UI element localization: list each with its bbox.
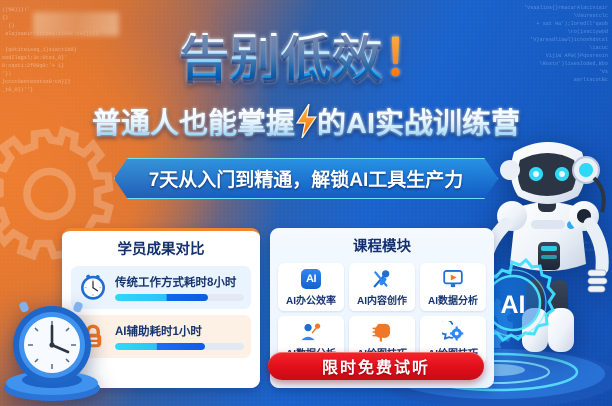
student-row-label: AI辅助耗时1小时 xyxy=(115,323,244,339)
headline: 告别低效！ xyxy=(0,18,612,90)
tagline-badge: 7天从入门到精通，解锁AI工具生产力 xyxy=(114,158,499,199)
person-chart-icon xyxy=(280,321,342,343)
cta-label: 限时免费试听 xyxy=(322,354,430,378)
module-label: AI数据分析 xyxy=(422,292,484,307)
lightning-bolt-icon xyxy=(293,104,319,138)
subtitle-part-2: 的AI实战训练营 xyxy=(317,108,520,140)
progress-bar-ai xyxy=(115,343,244,350)
alarm-clock-illustration xyxy=(0,290,108,402)
monitor-play-icon xyxy=(422,268,484,290)
modules-card-title: 课程模块 xyxy=(278,235,486,256)
module-label: AI办公效率 xyxy=(280,292,342,307)
student-card-title: 学员成果对比 xyxy=(71,238,251,259)
free-trial-button[interactable]: 限时免费试听 xyxy=(268,352,484,380)
modules-grid: AI AI办公效率 AI内容创作 xyxy=(278,263,486,364)
hand-pointer-icon xyxy=(351,321,413,343)
ai-orb-label: AI xyxy=(501,291,526,319)
poster-canvas: ((%0)))!' {) () alajsaeir:ttcpsi:i1G0t:t… xyxy=(0,0,612,406)
module-tile-ai-data-1[interactable]: AI数据分析 xyxy=(420,263,486,311)
tagline-badge-wrap: 7天从入门到精通，解锁AI工具生产力 xyxy=(114,158,499,199)
subtitle-part-1: 普通人也能掌握 xyxy=(92,108,295,140)
microphone-pen-icon xyxy=(351,268,413,290)
module-tile-ai-content[interactable]: AI内容创作 xyxy=(349,263,415,311)
module-label: AI内容创作 xyxy=(351,292,413,307)
chat-gear-icon xyxy=(422,321,484,343)
progress-bar-traditional xyxy=(115,294,244,301)
headline-exclamation: ！ xyxy=(383,30,433,86)
subtitle: 普通人也能掌握的AI实战训练营 xyxy=(0,100,612,142)
tagline-text: 7天从入门到精通，解锁AI工具生产力 xyxy=(149,170,464,191)
module-tile-ai-office[interactable]: AI AI办公效率 xyxy=(278,263,344,311)
student-row-label: 传统工作方式耗时8小时 xyxy=(115,274,244,290)
headline-text: 告别低效 xyxy=(179,33,383,83)
ai-badge-icon: AI xyxy=(280,268,342,290)
